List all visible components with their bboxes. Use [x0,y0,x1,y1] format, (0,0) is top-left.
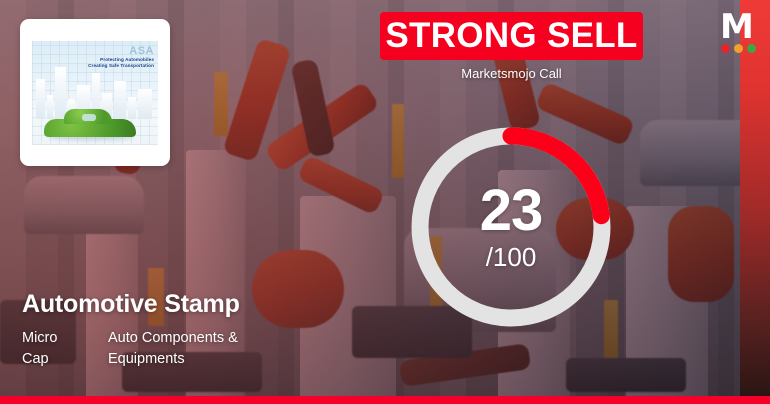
company-logo-tagline-2: Creating Safe Transportation [88,64,154,69]
green-car-illustration [44,105,136,137]
logo-dot-orange [734,44,743,53]
stock-call-card: M ASA Protecting Aut [0,0,770,404]
marketsmojo-logo-letter: M [720,14,754,42]
company-name: Automotive Stamp [22,290,352,319]
score-value: 23 [480,186,543,236]
company-logo-text: ASA Protecting Automobiles Creating Safe… [88,46,154,69]
company-logo-card: ASA Protecting Automobiles Creating Safe… [20,19,170,166]
company-logo-artwork: ASA Protecting Automobiles Creating Safe… [32,41,158,145]
company-meta: Micro Cap Auto Components & Equipments [22,328,352,370]
market-cap-label: Micro Cap [22,328,84,370]
brand-rail [740,0,770,396]
company-info: Automotive Stamp Micro Cap Auto Componen… [22,290,352,370]
sector-label: Auto Components & Equipments [108,328,273,370]
call-section: STRONG SELL Marketsmojo Call [380,12,643,81]
score-gauge: 23 /100 [411,127,611,327]
company-logo-mark: ASA [88,46,154,58]
score-total: /100 [486,242,537,272]
score-gauge-center: 23 /100 [411,127,611,327]
call-rating-banner: STRONG SELL [380,12,643,60]
marketsmojo-logo: M [720,14,762,58]
marketsmojo-logo-dots [721,44,756,53]
logo-dot-green [747,44,756,53]
call-caption: Marketsmojo Call [380,66,643,81]
footer-bar [0,396,770,404]
logo-dot-red [721,44,730,53]
